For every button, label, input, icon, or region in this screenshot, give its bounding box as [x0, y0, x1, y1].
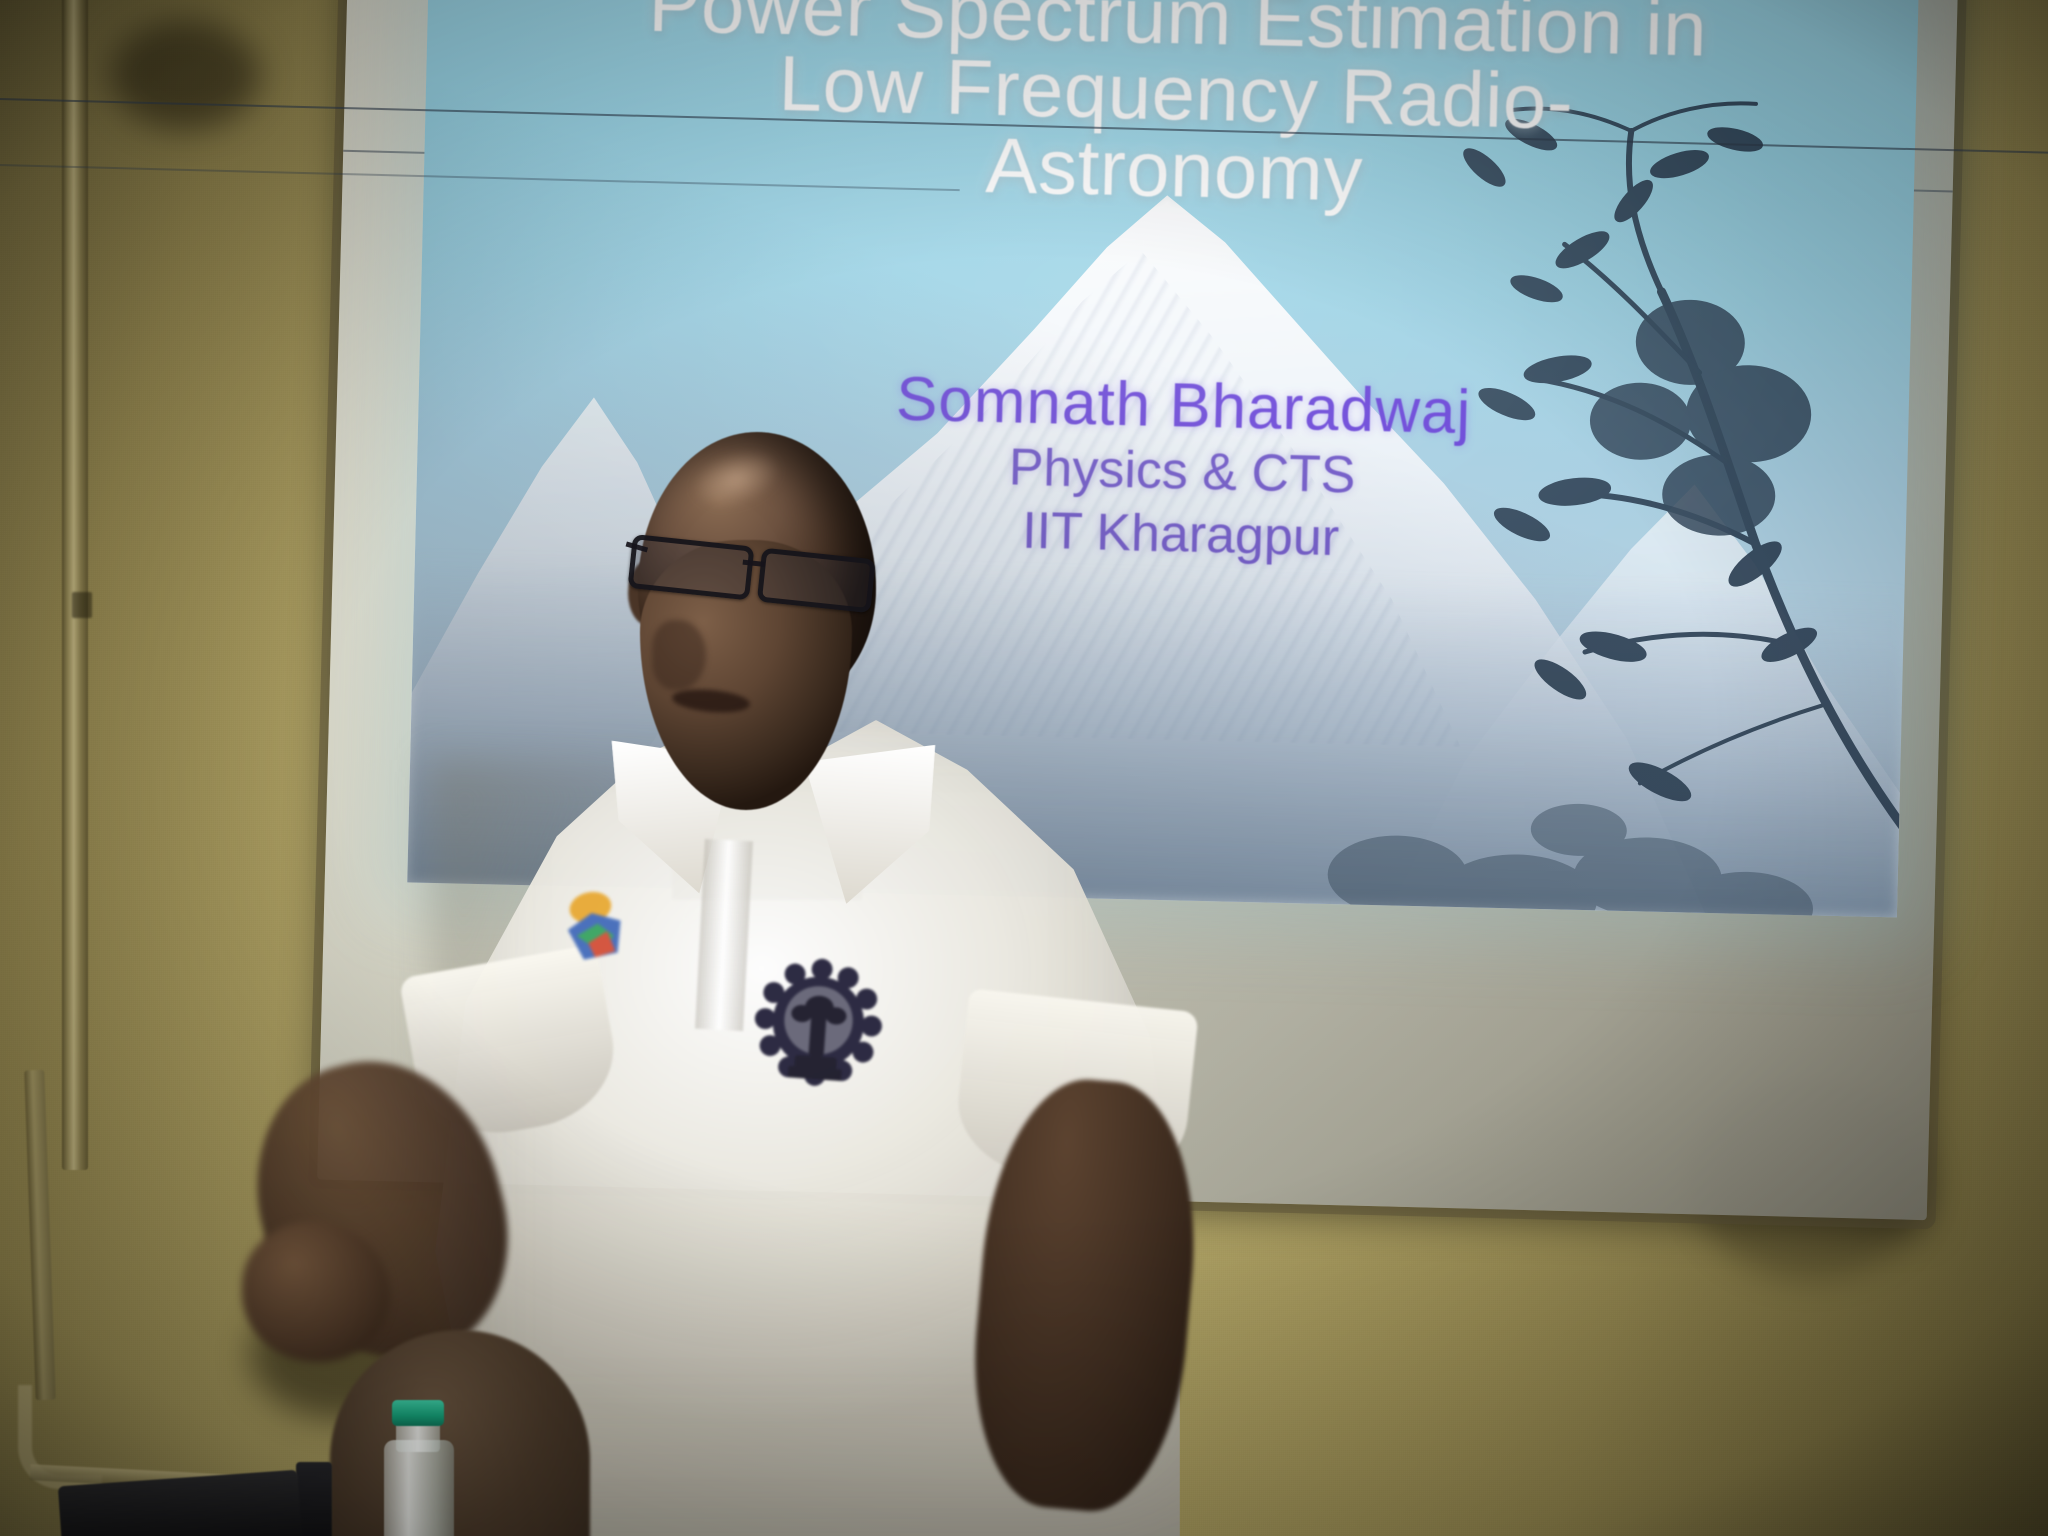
presenter: [0, 0, 2048, 1536]
water-bottle-cap: [392, 1400, 444, 1426]
photo-scene: Power Spectrum Estimation in Low Frequen…: [0, 0, 2048, 1536]
presenter-nose: [652, 620, 706, 690]
water-bottle-body: [384, 1440, 454, 1536]
iit-kharagpur-logo-icon: [737, 947, 899, 1109]
presenter-hand-left: [242, 1222, 390, 1362]
dark-post: [296, 1462, 332, 1536]
